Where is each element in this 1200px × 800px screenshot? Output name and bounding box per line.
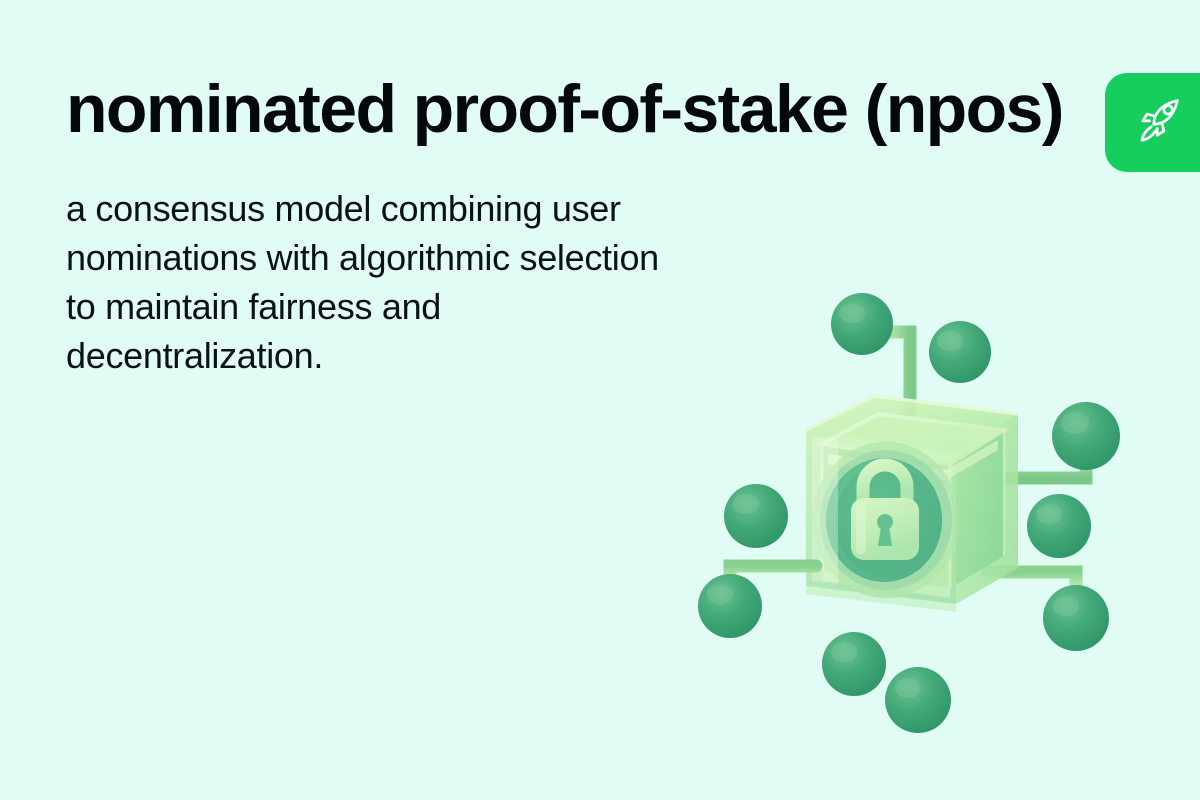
node-right-upper: [1052, 402, 1120, 470]
text-column: nominated proof-of-stake (npos) a consen…: [66, 74, 686, 381]
node-left-middle: [724, 484, 788, 548]
rocket-badge[interactable]: [1105, 73, 1200, 172]
node-right-lower: [1043, 585, 1109, 651]
node-bottom-left: [822, 632, 886, 696]
rocket-icon: [1145, 93, 1185, 152]
node-top-right: [929, 321, 991, 383]
page-description: a consensus model combining user nominat…: [66, 185, 676, 381]
node-right-middle: [1027, 494, 1091, 558]
glass-cube: [806, 396, 1018, 612]
secure-network-cube-illustration: [688, 268, 1160, 740]
node-top-left: [831, 293, 893, 355]
node-left-lower: [698, 574, 762, 638]
node-bottom-right: [885, 667, 951, 733]
page-title: nominated proof-of-stake (npos): [66, 74, 1076, 145]
